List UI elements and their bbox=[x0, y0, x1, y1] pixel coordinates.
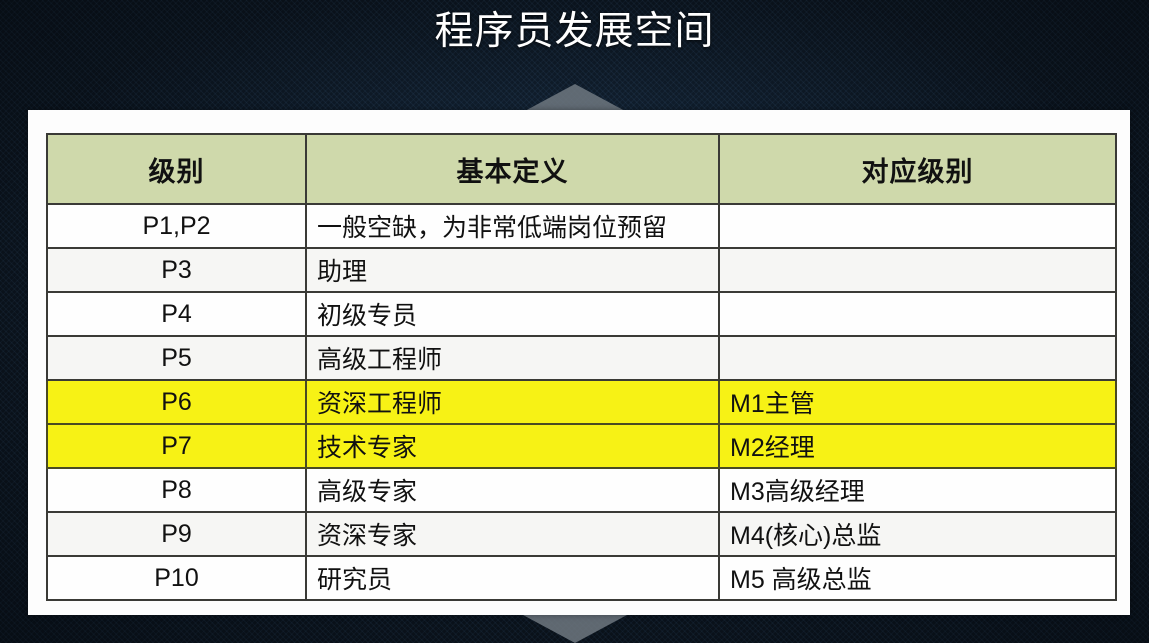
cell-level: P4 bbox=[47, 292, 306, 336]
table-row: P9资深专家M4(核心)总监 bbox=[47, 512, 1116, 556]
cell-definition: 高级工程师 bbox=[306, 336, 719, 380]
cell-match: M2经理 bbox=[719, 424, 1116, 468]
cell-match: M5 高级总监 bbox=[719, 556, 1116, 600]
cell-match: M4(核心)总监 bbox=[719, 512, 1116, 556]
cell-definition: 研究员 bbox=[306, 556, 719, 600]
cell-level: P7 bbox=[47, 424, 306, 468]
cell-match: M1主管 bbox=[719, 380, 1116, 424]
cell-level: P9 bbox=[47, 512, 306, 556]
column-header-match: 对应级别 bbox=[719, 134, 1116, 204]
cell-definition: 一般空缺，为非常低端岗位预留 bbox=[306, 204, 719, 248]
cell-level: P3 bbox=[47, 248, 306, 292]
table-header: 级别 基本定义 对应级别 bbox=[47, 134, 1116, 204]
cell-match bbox=[719, 292, 1116, 336]
cell-level: P10 bbox=[47, 556, 306, 600]
content-card: 级别 基本定义 对应级别 P1,P2一般空缺，为非常低端岗位预留P3助理P4初级… bbox=[28, 110, 1130, 615]
cell-level: P6 bbox=[47, 380, 306, 424]
cell-definition: 技术专家 bbox=[306, 424, 719, 468]
table-row: P6资深工程师M1主管 bbox=[47, 380, 1116, 424]
chevron-down-icon bbox=[523, 615, 627, 643]
cell-definition: 资深工程师 bbox=[306, 380, 719, 424]
cell-match bbox=[719, 204, 1116, 248]
cell-level: P1,P2 bbox=[47, 204, 306, 248]
cell-match: M3高级经理 bbox=[719, 468, 1116, 512]
cell-definition: 高级专家 bbox=[306, 468, 719, 512]
cell-level: P8 bbox=[47, 468, 306, 512]
cell-definition: 资深专家 bbox=[306, 512, 719, 556]
table-row: P1,P2一般空缺，为非常低端岗位预留 bbox=[47, 204, 1116, 248]
cell-definition: 助理 bbox=[306, 248, 719, 292]
cell-match bbox=[719, 336, 1116, 380]
table-row: P4初级专员 bbox=[47, 292, 1116, 336]
table-body: P1,P2一般空缺，为非常低端岗位预留P3助理P4初级专员P5高级工程师P6资深… bbox=[47, 204, 1116, 600]
cell-level: P5 bbox=[47, 336, 306, 380]
column-header-definition: 基本定义 bbox=[306, 134, 719, 204]
table-row: P7技术专家M2经理 bbox=[47, 424, 1116, 468]
table-row: P5高级工程师 bbox=[47, 336, 1116, 380]
slide-title: 程序员发展空间 bbox=[0, 6, 1149, 58]
slide: 程序员发展空间 级别 基本定义 对应级别 P1,P2一般空缺，为非常低端岗位预留… bbox=[0, 0, 1149, 643]
cell-definition: 初级专员 bbox=[306, 292, 719, 336]
table-row: P3助理 bbox=[47, 248, 1116, 292]
career-level-table: 级别 基本定义 对应级别 P1,P2一般空缺，为非常低端岗位预留P3助理P4初级… bbox=[46, 133, 1117, 601]
cell-match bbox=[719, 248, 1116, 292]
column-header-level: 级别 bbox=[47, 134, 306, 204]
table-row: P10研究员M5 高级总监 bbox=[47, 556, 1116, 600]
chevron-up-icon bbox=[523, 84, 627, 112]
table-row: P8高级专家M3高级经理 bbox=[47, 468, 1116, 512]
table-header-row: 级别 基本定义 对应级别 bbox=[47, 134, 1116, 204]
